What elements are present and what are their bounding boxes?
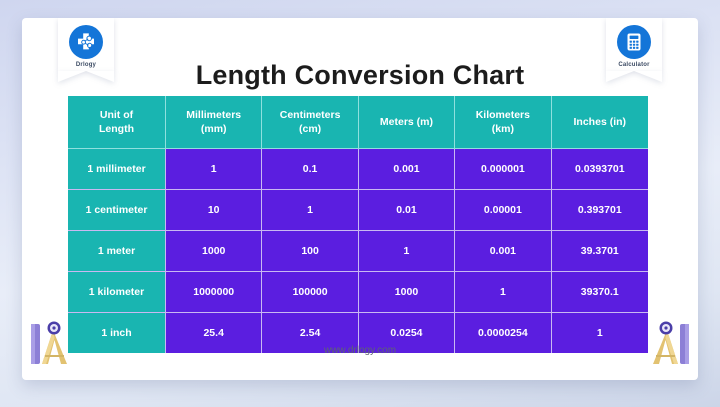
calculator-icon: [617, 25, 651, 59]
cell-m-mm: 1000: [166, 231, 262, 272]
cell-mm-km: 0.000001: [455, 149, 551, 190]
table-row: 1 centimeter 10 1 0.01 0.00001 0.393701: [68, 190, 648, 231]
table-row: 1 kilometer 1000000 100000 1000 1 39370.…: [68, 272, 648, 313]
column-header-meters: Meters (m): [359, 96, 455, 149]
cell-km-m: 1000: [359, 272, 455, 313]
badge-body: Calculator: [606, 18, 662, 71]
calculator-badge-label: Calculator: [618, 62, 649, 68]
table-header-row: Unit of Length Millimeters (mm) Centimet…: [68, 96, 648, 149]
badge-tail: [58, 71, 114, 82]
badge-tail: [606, 71, 662, 82]
row-header-centimeter: 1 centimeter: [68, 190, 166, 231]
calculator-badge[interactable]: Calculator: [606, 18, 662, 82]
row-header-meter: 1 meter: [68, 231, 166, 272]
cell-m-in: 39.3701: [552, 231, 648, 272]
badge-body: Drlogy: [58, 18, 114, 71]
drlogy-medical-cross-icon: [69, 25, 103, 59]
cell-cm-cm: 1: [262, 190, 358, 231]
column-header-unit: Unit of Length: [68, 96, 166, 149]
cell-km-mm: 1000000: [166, 272, 262, 313]
cell-m-cm: 100: [262, 231, 358, 272]
table-row: 1 meter 1000 100 1 0.001 39.3701: [68, 231, 648, 272]
cell-km-in: 39370.1: [552, 272, 648, 313]
content-card: Drlogy: [22, 18, 698, 380]
cell-mm-m: 0.001: [359, 149, 455, 190]
page-title: Length Conversion Chart: [22, 60, 698, 91]
cell-mm-in: 0.0393701: [552, 149, 648, 190]
conversion-table-wrapper: Unit of Length Millimeters (mm) Centimet…: [68, 96, 648, 353]
cell-cm-in: 0.393701: [552, 190, 648, 231]
footer-website-url: www.drlogy.com: [22, 345, 698, 356]
cell-cm-mm: 10: [166, 190, 262, 231]
cell-cm-km: 0.00001: [455, 190, 551, 231]
column-header-inches: Inches (in): [552, 96, 648, 149]
cell-km-km: 1: [455, 272, 551, 313]
compass-divider-icon: [28, 314, 80, 372]
drlogy-badge-label: Drlogy: [76, 62, 96, 68]
column-header-centimeters: Centimeters (cm): [262, 96, 358, 149]
cell-mm-mm: 1: [166, 149, 262, 190]
row-header-kilometer: 1 kilometer: [68, 272, 166, 313]
table-row: 1 millimeter 1 0.1 0.001 0.000001 0.0393…: [68, 149, 648, 190]
column-header-kilometers: Kilometers (km): [455, 96, 551, 149]
length-conversion-table: Unit of Length Millimeters (mm) Centimet…: [68, 96, 648, 353]
poster-canvas: Drlogy: [0, 0, 720, 407]
cell-mm-cm: 0.1: [262, 149, 358, 190]
row-header-millimeter: 1 millimeter: [68, 149, 166, 190]
column-header-millimeters: Millimeters (mm): [166, 96, 262, 149]
cell-m-km: 0.001: [455, 231, 551, 272]
cell-cm-m: 0.01: [359, 190, 455, 231]
cell-km-cm: 100000: [262, 272, 358, 313]
cell-m-m: 1: [359, 231, 455, 272]
drlogy-brand-badge[interactable]: Drlogy: [58, 18, 114, 82]
compass-divider-icon: [640, 314, 692, 372]
